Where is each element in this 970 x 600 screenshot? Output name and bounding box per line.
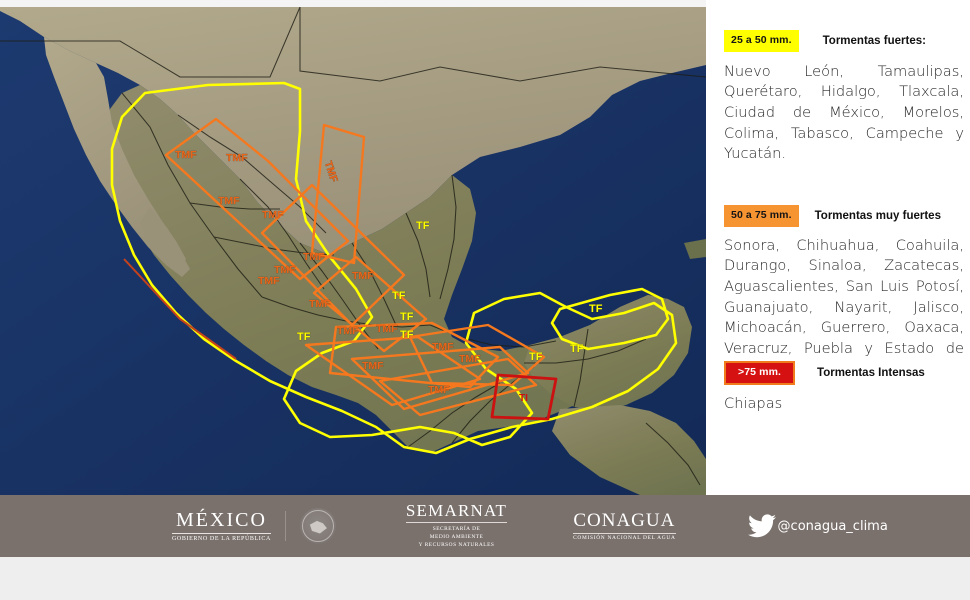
tmf-label: TMF — [337, 325, 359, 337]
mexico-wordmark: MÉXICO — [172, 510, 271, 530]
divider — [406, 522, 507, 523]
legend-title-intense-storms: Tormentas Intensas — [817, 367, 925, 379]
legend-chip-25-50mm[interactable]: 25 a 50 mm. — [724, 30, 799, 52]
tf-label: TF — [400, 311, 414, 323]
legend-title-very-strong-storms: Tormentas muy fuertes — [815, 210, 941, 222]
legend-panel: 25 a 50 mm. Tormentas fuertes: Nuevo Leó… — [706, 0, 970, 495]
ti-label: TI — [519, 393, 528, 404]
footer-bar: MÉXICO GOBIERNO DE LA REPÚBLICA SEMARNAT… — [0, 495, 970, 557]
legend-title-strong-storms: Tormentas fuertes: — [823, 35, 926, 47]
semarnat-sub-3: Y RECURSOS NATURALES — [406, 542, 507, 550]
tmf-label: TMF — [218, 195, 240, 207]
legend-states-very-strong-storms: Sonora, Chihuahua, Coahuila, Durango, Si… — [724, 236, 964, 381]
tmf-label: TMF — [303, 251, 325, 263]
logo-divider — [285, 511, 286, 541]
twitter-bird-icon — [748, 514, 776, 538]
tmf-label: TMF — [352, 270, 374, 282]
tf-label: TF — [297, 331, 311, 343]
tmf-label: TMF — [432, 341, 454, 353]
divider — [172, 533, 271, 534]
twitter-handle: @conagua_clima — [778, 519, 888, 534]
tf-label: TF — [589, 303, 603, 315]
semarnat-wordmark: SEMARNAT — [406, 502, 507, 519]
legend-block-strong-storms: 25 a 50 mm. Tormentas fuertes: Nuevo Leó… — [724, 30, 964, 165]
conagua-wordmark: CONAGUA — [573, 511, 675, 530]
gobierno-mexico-logo[interactable]: MÉXICO GOBIERNO DE LA REPÚBLICA — [172, 510, 271, 542]
legend-header-row: 25 a 50 mm. Tormentas fuertes: — [724, 30, 964, 52]
legend-chip-over-75mm[interactable]: >75 mm. — [724, 361, 795, 385]
tmf-label: TMF — [309, 298, 331, 310]
tmf-label: TMF — [226, 152, 248, 164]
tf-label: TF — [529, 351, 543, 363]
conagua-subtitle: COMISIÓN NACIONAL DEL AGUA — [573, 536, 675, 541]
escudo-nacional-eagle-icon — [300, 508, 336, 544]
tmf-label: TMF — [175, 149, 197, 161]
divider — [573, 533, 675, 534]
tmf-label: TMF — [262, 209, 284, 221]
semarnat-logo[interactable]: SEMARNAT SECRETARÍA DE MEDIO AMBIENTE Y … — [406, 502, 507, 549]
mexico-subtitle: GOBIERNO DE LA REPÚBLICA — [172, 536, 271, 542]
conagua-logo[interactable]: CONAGUA COMISIÓN NACIONAL DEL AGUA — [573, 511, 675, 541]
legend-header-row: >75 mm. Tormentas Intensas — [724, 361, 964, 385]
legend-states-intense-storms: Chiapas — [724, 394, 964, 415]
page-bottom-background — [0, 557, 970, 600]
legend-chip-50-75mm[interactable]: 50 a 75 mm. — [724, 205, 799, 227]
semarnat-sub-2: MEDIO AMBIENTE — [406, 534, 507, 542]
tmf-label: TMF — [459, 353, 481, 365]
legend-block-very-strong-storms: 50 a 75 mm. Tormentas muy fuertes Sonora… — [724, 205, 964, 381]
tf-label: TF — [570, 343, 584, 355]
weather-map-page: TF TF TF TF TF TF TF TF TMF TMF TMF TMF … — [0, 0, 970, 600]
semarnat-sub-1: SECRETARÍA DE — [406, 526, 507, 534]
tmf-label: TMF — [258, 275, 280, 287]
tmf-label: TMF — [376, 323, 398, 335]
tmf-label: TMF — [362, 360, 384, 372]
map-svg: TF TF TF TF TF TF TF TF TMF TMF TMF TMF … — [0, 7, 706, 495]
legend-header-row: 50 a 75 mm. Tormentas muy fuertes — [724, 205, 964, 227]
tf-label: TF — [416, 220, 430, 232]
legend-block-intense-storms: >75 mm. Tormentas Intensas Chiapas — [724, 361, 964, 414]
tmf-label: TMF — [428, 384, 450, 396]
tf-label: TF — [400, 329, 414, 341]
twitter-link[interactable]: @conagua_clima — [748, 514, 888, 538]
legend-states-strong-storms: Nuevo León, Tamaulipas, Querétaro, Hidal… — [724, 62, 964, 166]
mexico-precipitation-map[interactable]: TF TF TF TF TF TF TF TF TMF TMF TMF TMF … — [0, 7, 706, 495]
tf-label: TF — [392, 290, 406, 302]
